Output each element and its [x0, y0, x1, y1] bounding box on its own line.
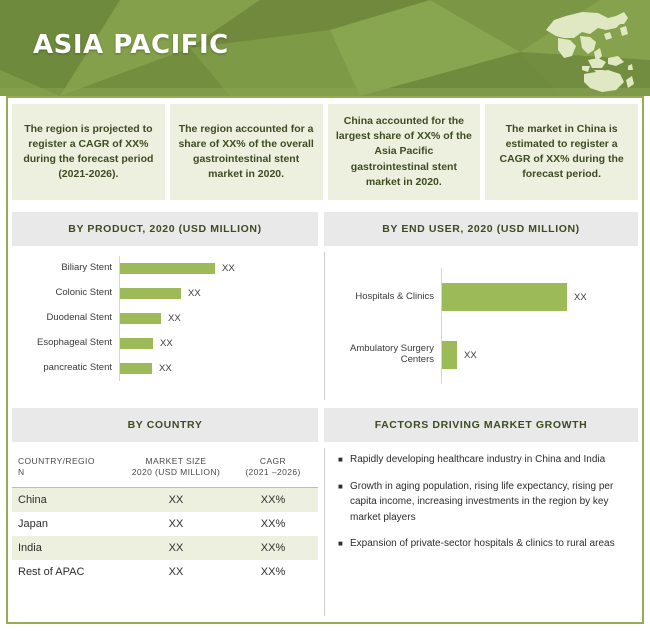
cell-cagr: XX% — [228, 560, 318, 584]
square-bullet-icon: ■ — [338, 452, 350, 468]
callout-row: The region is projected to register a CA… — [6, 104, 644, 200]
callout-box-1: The region is projected to register a CA… — [12, 104, 165, 200]
cell-cagr: XX% — [228, 487, 318, 512]
bottom-panel-divider — [324, 448, 325, 616]
column-header-country-line1: COUNTRY/REGIO — [18, 456, 95, 466]
table-row: India XX XX% — [12, 536, 318, 560]
bar-fill — [120, 363, 152, 374]
callout-text-4: The market in China is estimated to regi… — [493, 122, 630, 183]
bar-fill — [120, 288, 181, 299]
callout-box-3: China accounted for the largest share of… — [328, 104, 481, 200]
bar-category-label: Biliary Stent — [20, 263, 119, 274]
chart-section-headers: BY PRODUCT, 2020 (USD MILLION) BY END US… — [12, 212, 638, 246]
bar-row: Hospitals & Clinics XX — [330, 268, 630, 326]
chart-by-end-user: Hospitals & Clinics XX Ambulatory Surger… — [330, 268, 630, 384]
table-row: Japan XX XX% — [12, 512, 318, 536]
bar-value-label: XX — [574, 292, 587, 303]
bar-value-label: XX — [159, 363, 172, 374]
cell-market-size: XX — [124, 536, 228, 560]
bar-category-label: Esophageal Stent — [20, 338, 119, 349]
callout-box-4: The market in China is estimated to regi… — [485, 104, 638, 200]
bar-track: XX — [119, 331, 310, 356]
callout-text-3: China accounted for the largest share of… — [336, 114, 473, 190]
table-header-row: COUNTRY/REGIO N MARKET SIZE 2020 (USD MI… — [12, 452, 318, 487]
bar-track: XX — [119, 306, 310, 331]
bar-track: XX — [441, 268, 630, 326]
section-header-factors: FACTORS DRIVING MARKET GROWTH — [324, 408, 638, 442]
bar-value-label: XX — [168, 313, 181, 324]
bar-value-label: XX — [188, 288, 201, 299]
bar-value-label: XX — [464, 350, 477, 361]
callout-text-1: The region is projected to register a CA… — [20, 122, 157, 183]
bar-fill — [442, 341, 457, 369]
table-body: China XX XX% Japan XX XX% India XX XX% R… — [12, 487, 318, 584]
asia-pacific-map-icon — [532, 4, 640, 94]
cell-market-size: XX — [124, 560, 228, 584]
factor-text: Rapidly developing healthcare industry i… — [350, 452, 634, 468]
list-item: ■ Growth in aging population, rising lif… — [338, 479, 634, 526]
bar-fill — [442, 283, 567, 311]
column-header-cagr-line1: CAGR — [260, 456, 286, 466]
callout-text-2: The region accounted for a share of XX% … — [178, 122, 315, 183]
bar-fill — [120, 263, 215, 274]
cell-country: India — [12, 536, 124, 560]
bar-row: Duodenal Stent XX — [20, 306, 310, 331]
bar-category-label: Duodenal Stent — [20, 313, 119, 324]
cell-cagr: XX% — [228, 512, 318, 536]
column-header-cagr-line2: (2021 –2026) — [245, 467, 300, 477]
bar-row: Ambulatory Surgery Centers XX — [330, 326, 630, 384]
table-row: China XX XX% — [12, 487, 318, 512]
table-row: Rest of APAC XX XX% — [12, 560, 318, 584]
country-table: COUNTRY/REGIO N MARKET SIZE 2020 (USD MI… — [12, 452, 318, 584]
square-bullet-icon: ■ — [338, 479, 350, 526]
factors-list: ■ Rapidly developing healthcare industry… — [338, 452, 634, 563]
cell-market-size: XX — [124, 487, 228, 512]
column-header-market-size: MARKET SIZE 2020 (USD MILLION) — [124, 452, 228, 487]
column-header-cagr: CAGR (2021 –2026) — [228, 452, 318, 487]
factor-text: Expansion of private-sector hospitals & … — [350, 536, 634, 552]
cell-country: China — [12, 487, 124, 512]
section-header-by-country: BY COUNTRY — [12, 408, 318, 442]
cell-country: Rest of APAC — [12, 560, 124, 584]
bar-track: XX — [441, 326, 630, 384]
bar-track: XX — [119, 281, 310, 306]
column-header-country: COUNTRY/REGIO N — [12, 452, 124, 487]
section-header-by-product: BY PRODUCT, 2020 (USD MILLION) — [12, 212, 318, 246]
column-header-market-size-line2: 2020 (USD MILLION) — [132, 467, 220, 477]
bar-track: XX — [119, 256, 310, 281]
chart-by-product: Biliary Stent XX Colonic Stent XX Duoden… — [20, 256, 310, 381]
page-banner: ASIA PACIFIC — [0, 0, 650, 96]
bar-row: Esophageal Stent XX — [20, 331, 310, 356]
column-header-country-line2: N — [18, 467, 25, 477]
bar-fill — [120, 313, 161, 324]
column-header-market-size-line1: MARKET SIZE — [146, 456, 207, 466]
bar-fill — [120, 338, 153, 349]
square-bullet-icon: ■ — [338, 536, 350, 552]
callout-box-2: The region accounted for a share of XX% … — [170, 104, 323, 200]
cell-market-size: XX — [124, 512, 228, 536]
cell-cagr: XX% — [228, 536, 318, 560]
list-item: ■ Rapidly developing healthcare industry… — [338, 452, 634, 468]
table-header: COUNTRY/REGIO N MARKET SIZE 2020 (USD MI… — [12, 452, 318, 487]
section-header-by-end-user: BY END USER, 2020 (USD MILLION) — [324, 212, 638, 246]
bar-value-label: XX — [160, 338, 173, 349]
bar-value-label: XX — [222, 263, 235, 274]
chart-panel-divider — [324, 252, 325, 400]
bar-category-label: Ambulatory Surgery Centers — [330, 344, 441, 366]
bar-category-label: Hospitals & Clinics — [330, 292, 441, 303]
bar-track: XX — [119, 356, 310, 381]
bar-row: Colonic Stent XX — [20, 281, 310, 306]
infographic-page: ASIA PACIFIC The regio — [0, 0, 650, 631]
page-title: ASIA PACIFIC — [33, 30, 229, 60]
list-item: ■ Expansion of private-sector hospitals … — [338, 536, 634, 552]
bar-row: Biliary Stent XX — [20, 256, 310, 281]
bar-category-label: pancreatic Stent — [20, 363, 119, 374]
bar-row: pancreatic Stent XX — [20, 356, 310, 381]
bar-category-label: Colonic Stent — [20, 288, 119, 299]
bottom-section-headers: BY COUNTRY FACTORS DRIVING MARKET GROWTH — [12, 408, 638, 442]
factor-text: Growth in aging population, rising life … — [350, 479, 634, 526]
cell-country: Japan — [12, 512, 124, 536]
